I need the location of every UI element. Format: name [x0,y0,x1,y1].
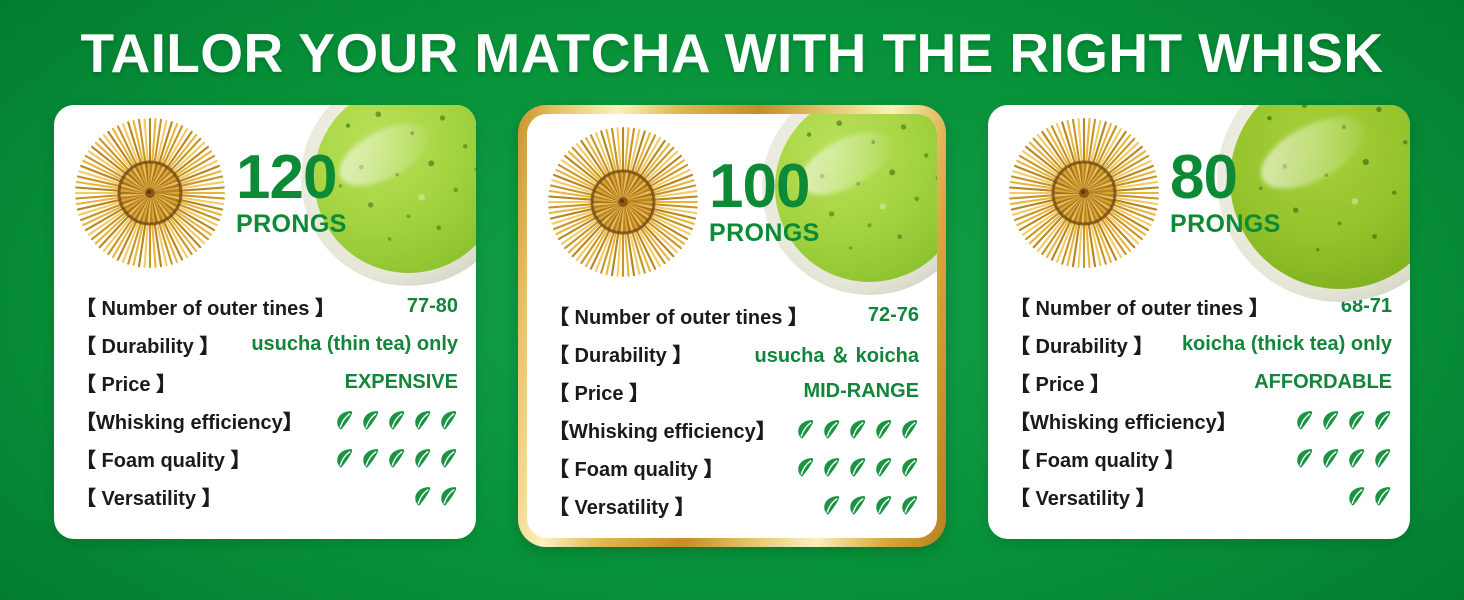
card-body: 100 PRONGS 【 Number of outer tines 】 72-… [527,114,937,538]
spec-row: 【Whisking efficiency】 [1010,401,1392,439]
row-label: 【Whisking efficiency】 [549,415,776,444]
card-header: 100 PRONGS [527,114,937,290]
spec-row: 【 Durability 】 usucha ＆ koicha [549,334,919,372]
leaf-rating-icon [900,494,919,517]
rating-leaves [1295,409,1392,432]
leaf-rating-icon [413,485,432,508]
rating-leaves [822,494,919,517]
leaf-rating-icon [900,456,919,479]
leaf-rating-icon [822,418,841,441]
leaf-rating-icon [1373,409,1392,432]
leaf-rating-icon [1347,409,1366,432]
prong-heading: 80 PRONGS [1170,149,1281,239]
row-label: 【 Foam quality 】 [549,453,723,482]
spec-row: 【 Price 】 AFFORDABLE [1010,363,1392,401]
row-label: 【 Number of outer tines 】 [549,301,808,330]
leaf-rating-icon [361,447,380,470]
whisk-comparison-cards: 120 PRONGS 【 Number of outer tines 】 77-… [0,105,1464,547]
leaf-rating-icon [439,485,458,508]
leaf-rating-icon [413,409,432,432]
leaf-rating-icon [796,456,815,479]
spec-row: 【Whisking efficiency】 [76,401,458,439]
leaf-rating-icon [796,418,815,441]
page-header: TAILOR YOUR MATCHA WITH THE RIGHT WHISK [0,0,1464,105]
row-label: 【 Number of outer tines 】 [1010,292,1269,321]
card-body: 80 PRONGS 【 Number of outer tines 】 68-7… [988,105,1410,539]
spec-row: 【 Foam quality 】 [1010,439,1392,477]
rating-leaves [335,409,458,432]
leaf-rating-icon [439,447,458,470]
whisk-card-100[interactable]: 100 PRONGS 【 Number of outer tines 】 72-… [518,105,946,547]
spec-list: 【 Number of outer tines 】 68-71 【 Durabi… [988,281,1410,515]
leaf-rating-icon [1295,447,1314,470]
leaf-rating-icon [822,456,841,479]
spec-row: 【 Number of outer tines 】 72-76 [549,296,919,334]
leaf-rating-icon [1321,409,1340,432]
row-value: 72-76 [868,304,919,327]
matcha-whisk-icon [1006,115,1162,271]
spec-row: 【 Durability 】 koicha (thick tea) only [1010,325,1392,363]
row-value: usucha (thin tea) only [251,333,458,356]
row-label: 【 Durability 】 [549,339,692,368]
leaf-rating-icon [439,409,458,432]
spec-row: 【 Versatility 】 [549,486,919,524]
leaf-rating-icon [1295,409,1314,432]
prong-count: 80 [1170,149,1281,208]
row-label: 【 Price 】 [1010,368,1110,397]
row-label: 【 Price 】 [549,377,649,406]
spec-row: 【 Versatility 】 [1010,477,1392,515]
leaf-rating-icon [874,456,893,479]
rating-leaves [335,447,458,470]
leaf-rating-icon [1373,485,1392,508]
row-label: 【 Versatility 】 [549,491,695,520]
leaf-rating-icon [335,409,354,432]
matcha-whisk-icon [545,124,701,280]
row-value: 77-80 [407,295,458,318]
leaf-rating-icon [1347,485,1366,508]
rating-leaves [796,418,919,441]
leaf-rating-icon [848,494,867,517]
spec-row: 【 Versatility 】 [76,477,458,515]
leaf-rating-icon [335,447,354,470]
row-label: 【 Durability 】 [76,330,219,359]
rating-leaves [1347,485,1392,508]
prong-label: PRONGS [236,210,347,239]
rating-leaves [413,485,458,508]
rating-leaves [796,456,919,479]
card-header: 120 PRONGS [54,105,476,281]
leaf-rating-icon [361,409,380,432]
prong-heading: 100 PRONGS [709,158,820,248]
row-value: AFFORDABLE [1254,371,1392,394]
leaf-rating-icon [1373,447,1392,470]
row-label: 【Whisking efficiency】 [76,406,303,435]
leaf-rating-icon [900,418,919,441]
row-value: koicha (thick tea) only [1182,333,1392,356]
spec-row: 【Whisking efficiency】 [549,410,919,448]
spec-row: 【 Price 】 EXPENSIVE [76,363,458,401]
leaf-rating-icon [822,494,841,517]
prong-heading: 120 PRONGS [236,149,347,239]
row-label: 【 Versatility 】 [1010,482,1156,511]
spec-row: 【 Number of outer tines 】 77-80 [76,287,458,325]
row-label: 【 Price 】 [76,368,176,397]
row-value: EXPENSIVE [345,371,458,394]
page-title: TAILOR YOUR MATCHA WITH THE RIGHT WHISK [81,21,1384,85]
row-value: usucha ＆ koicha [755,339,920,368]
spec-row: 【 Price 】 MID-RANGE [549,372,919,410]
spec-row: 【 Durability 】 usucha (thin tea) only [76,325,458,363]
row-label: 【 Durability 】 [1010,330,1153,359]
row-value: MID-RANGE [803,380,919,403]
card-body: 120 PRONGS 【 Number of outer tines 】 77-… [54,105,476,539]
whisk-card-80[interactable]: 80 PRONGS 【 Number of outer tines 】 68-7… [988,105,1410,539]
card-header: 80 PRONGS [988,105,1410,281]
matcha-whisk-icon [72,115,228,271]
leaf-rating-icon [413,447,432,470]
row-label: 【 Foam quality 】 [76,444,250,473]
leaf-rating-icon [387,447,406,470]
rating-leaves [1295,447,1392,470]
prong-count: 100 [709,158,820,217]
prong-label: PRONGS [709,219,820,248]
row-label: 【Whisking efficiency】 [1010,406,1237,435]
row-label: 【 Number of outer tines 】 [76,292,335,321]
leaf-rating-icon [1321,447,1340,470]
row-label: 【 Foam quality 】 [1010,444,1184,473]
spec-row: 【 Foam quality 】 [549,448,919,486]
prong-label: PRONGS [1170,210,1281,239]
leaf-rating-icon [848,418,867,441]
prong-count: 120 [236,149,347,208]
whisk-card-120[interactable]: 120 PRONGS 【 Number of outer tines 】 77-… [54,105,476,539]
leaf-rating-icon [848,456,867,479]
spec-list: 【 Number of outer tines 】 77-80 【 Durabi… [54,281,476,515]
leaf-rating-icon [874,494,893,517]
row-label: 【 Versatility 】 [76,482,222,511]
leaf-rating-icon [387,409,406,432]
leaf-rating-icon [1347,447,1366,470]
spec-row: 【 Foam quality 】 [76,439,458,477]
spec-list: 【 Number of outer tines 】 72-76 【 Durabi… [527,290,937,524]
leaf-rating-icon [874,418,893,441]
